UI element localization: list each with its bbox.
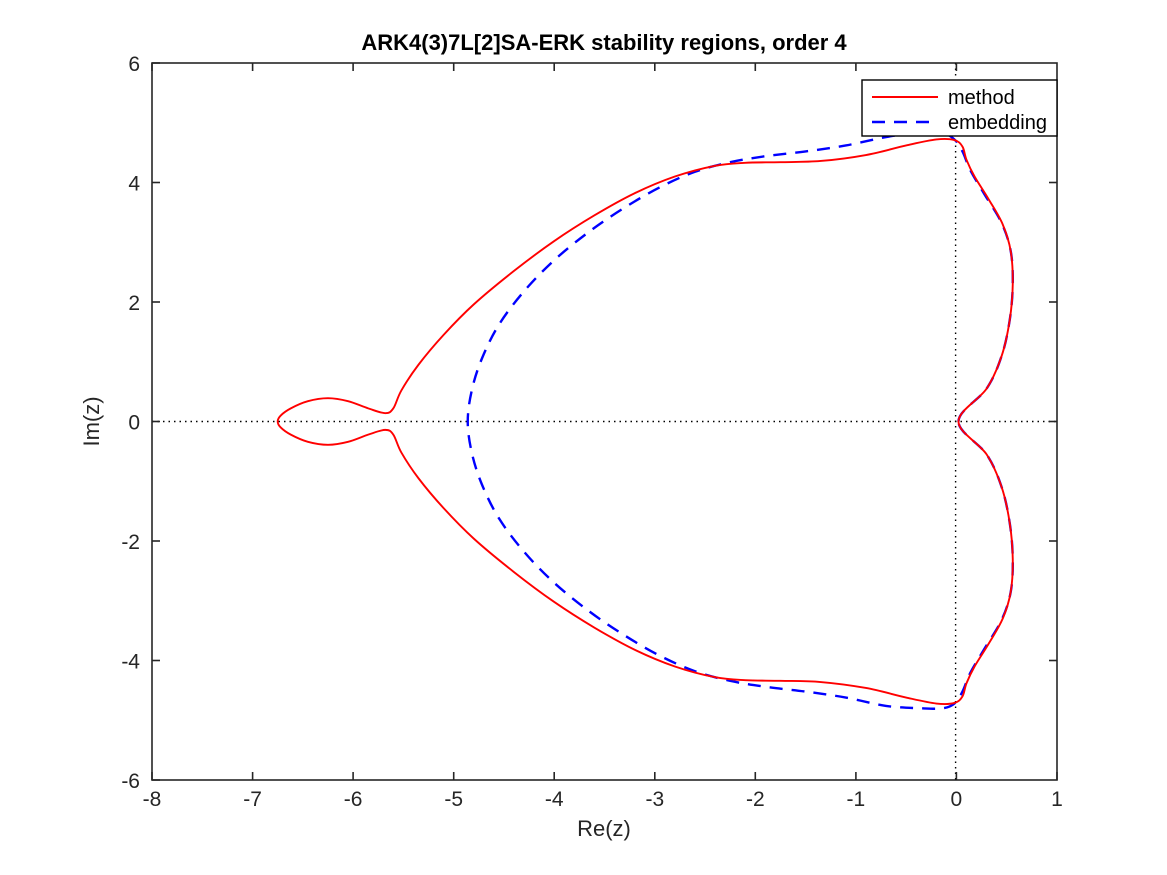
x-tick-label: -3 bbox=[645, 788, 664, 811]
figure-container: ARK4(3)7L[2]SA-ERK stability regions, or… bbox=[0, 0, 1167, 875]
y-tick-label: 4 bbox=[128, 173, 140, 196]
x-tick-label: 1 bbox=[1051, 788, 1063, 811]
y-tick-label: 2 bbox=[128, 292, 140, 315]
x-tick-label: -8 bbox=[143, 788, 162, 811]
chart-title: ARK4(3)7L[2]SA-ERK stability regions, or… bbox=[361, 30, 847, 55]
x-tick-label: -6 bbox=[344, 788, 363, 811]
x-tick-label: 0 bbox=[951, 788, 963, 811]
legend-label-embedding: embedding bbox=[948, 112, 1047, 134]
legend[interactable]: method embedding bbox=[862, 80, 1057, 136]
y-tick-label: 6 bbox=[128, 53, 140, 76]
x-tick-label: -5 bbox=[444, 788, 463, 811]
legend-label-method: method bbox=[948, 87, 1015, 109]
x-tick-label: -7 bbox=[243, 788, 262, 811]
y-tick-label: -2 bbox=[121, 531, 140, 554]
x-tick-label: -4 bbox=[545, 788, 564, 811]
stability-region-plot: ARK4(3)7L[2]SA-ERK stability regions, or… bbox=[0, 0, 1167, 875]
x-tick-label: -2 bbox=[746, 788, 765, 811]
y-tick-label: 0 bbox=[128, 412, 140, 435]
y-tick-label: -4 bbox=[121, 651, 140, 674]
y-tick-label: -6 bbox=[121, 770, 140, 793]
x-axis-label: Re(z) bbox=[577, 816, 631, 841]
y-axis-label: Im(z) bbox=[79, 396, 104, 446]
x-tick-label: -1 bbox=[847, 788, 866, 811]
